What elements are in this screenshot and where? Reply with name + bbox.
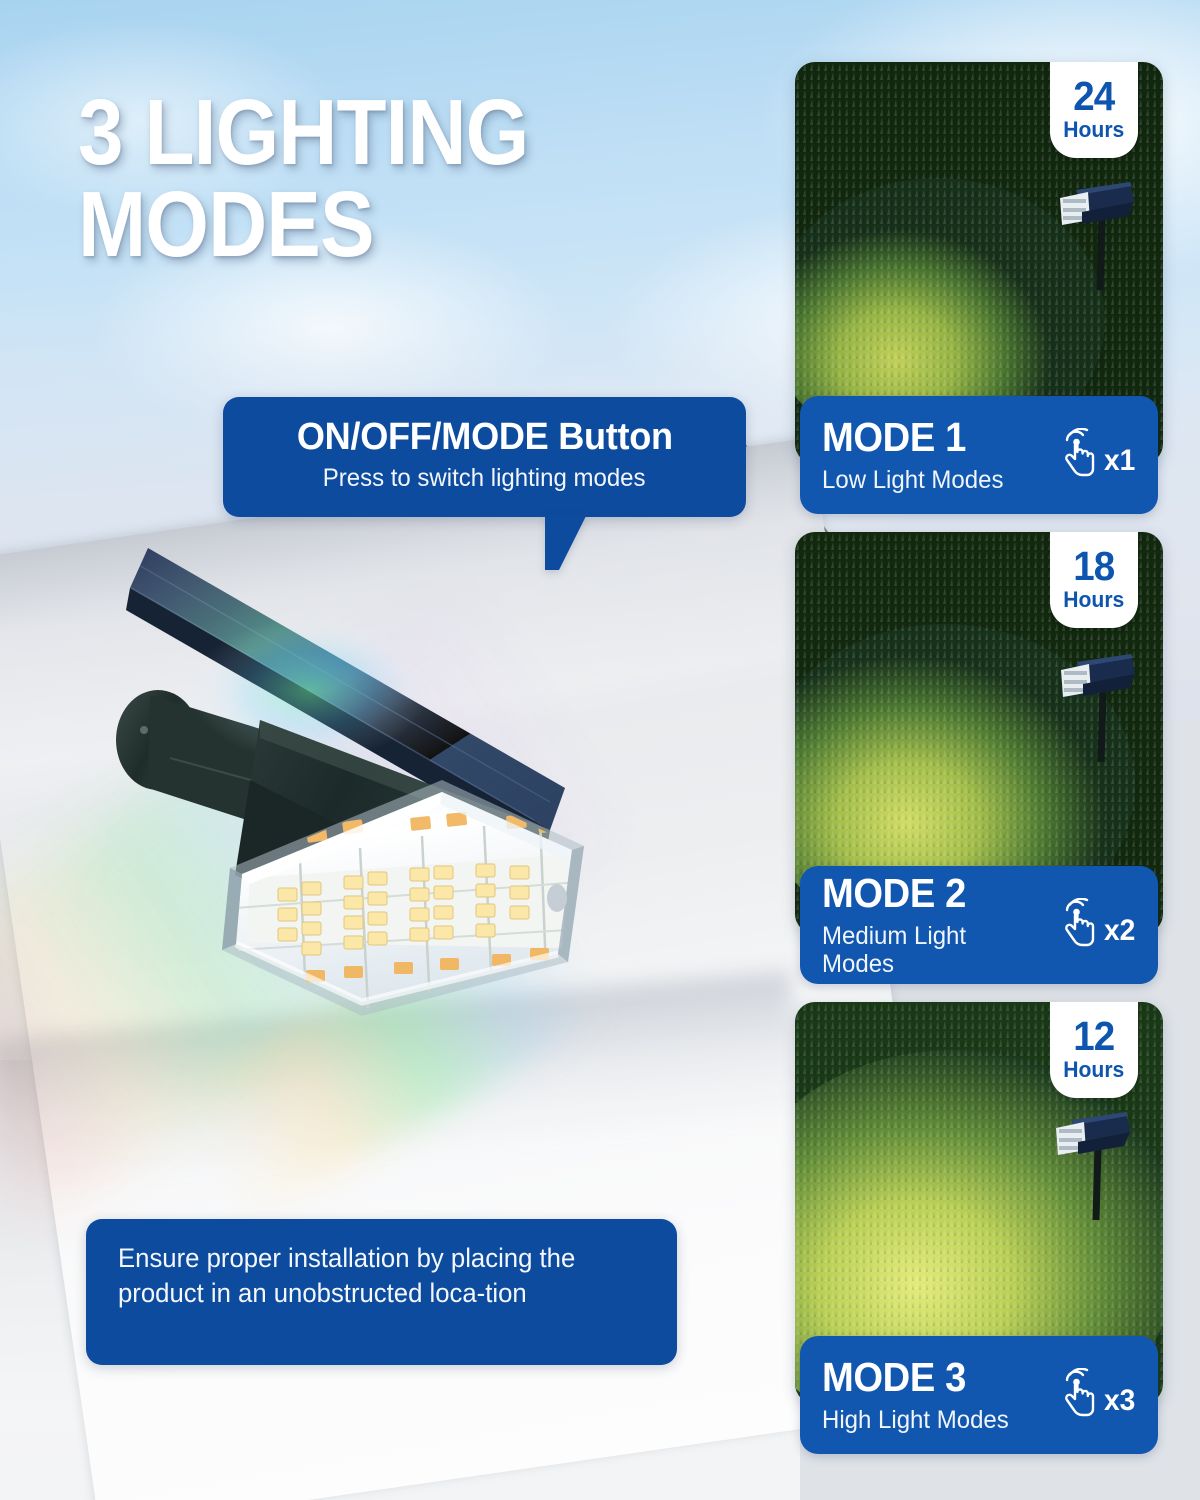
mode-cards-list: 24 Hours MODE 1 Low Light Modes x1 bbox=[795, 62, 1165, 1472]
mode-name: MODE 1 bbox=[822, 417, 1037, 458]
tap-hand-icon bbox=[1054, 428, 1100, 478]
mode-description: Medium Light Modes bbox=[822, 922, 1044, 978]
tap-indicator: x3 bbox=[1054, 1368, 1158, 1422]
tap-hand-icon bbox=[1054, 898, 1100, 948]
callout-subtitle: Press to switch lighting modes bbox=[323, 464, 646, 493]
callout-pointer-tail bbox=[545, 514, 587, 570]
mode-name: MODE 2 bbox=[822, 873, 1037, 914]
lawn-lamp-icon bbox=[1042, 172, 1138, 297]
callout-title: ON/OFF/MODE Button bbox=[297, 417, 673, 457]
hours-label: Hours bbox=[1063, 588, 1124, 612]
hours-value: 24 bbox=[1073, 78, 1114, 116]
hours-badge: 12 Hours bbox=[1050, 1002, 1138, 1098]
tap-hand-icon bbox=[1054, 1368, 1100, 1418]
hours-label: Hours bbox=[1063, 118, 1124, 142]
mode-label-bar[interactable]: MODE 3 High Light Modes x3 bbox=[800, 1336, 1158, 1454]
mode-card[interactable]: 18 Hours MODE 2 Medium Light Modes x2 bbox=[795, 532, 1163, 984]
tap-count: x1 bbox=[1104, 446, 1135, 478]
mode-button-callout: ON/OFF/MODE Button Press to switch light… bbox=[223, 397, 746, 517]
mode-card[interactable]: 24 Hours MODE 1 Low Light Modes x1 bbox=[795, 62, 1163, 514]
hours-badge: 18 Hours bbox=[1050, 532, 1138, 628]
mode-description: High Light Modes bbox=[822, 1406, 1044, 1434]
lawn-lamp-icon bbox=[1043, 644, 1139, 769]
installation-note-box: Ensure proper installation by placing th… bbox=[86, 1219, 677, 1365]
title-line-1: 3 LIGHTING bbox=[78, 80, 528, 184]
tap-indicator: x1 bbox=[1054, 428, 1158, 482]
title-line-2: MODES bbox=[78, 178, 694, 270]
product-image-solar-wall-light bbox=[110, 530, 730, 1070]
tap-indicator: x2 bbox=[1054, 898, 1158, 952]
tap-count: x2 bbox=[1104, 916, 1135, 948]
tap-count: x3 bbox=[1104, 1386, 1135, 1418]
hours-value: 18 bbox=[1073, 548, 1114, 586]
hours-value: 12 bbox=[1073, 1018, 1114, 1056]
hours-label: Hours bbox=[1063, 1058, 1124, 1082]
mode-description: Low Light Modes bbox=[822, 466, 1044, 494]
mode-label-bar[interactable]: MODE 1 Low Light Modes x1 bbox=[800, 396, 1158, 514]
mode-name: MODE 3 bbox=[822, 1357, 1037, 1398]
mode-card[interactable]: 12 Hours MODE 3 High Light Modes x3 bbox=[795, 1002, 1163, 1454]
mode-label-bar[interactable]: MODE 2 Medium Light Modes x2 bbox=[800, 866, 1158, 984]
page-title: 3 LIGHTING MODES bbox=[78, 86, 694, 270]
installation-note-text: Ensure proper installation by placing th… bbox=[118, 1241, 635, 1310]
lawn-lamp-icon bbox=[1038, 1102, 1134, 1227]
hours-badge: 24 Hours bbox=[1050, 62, 1138, 158]
